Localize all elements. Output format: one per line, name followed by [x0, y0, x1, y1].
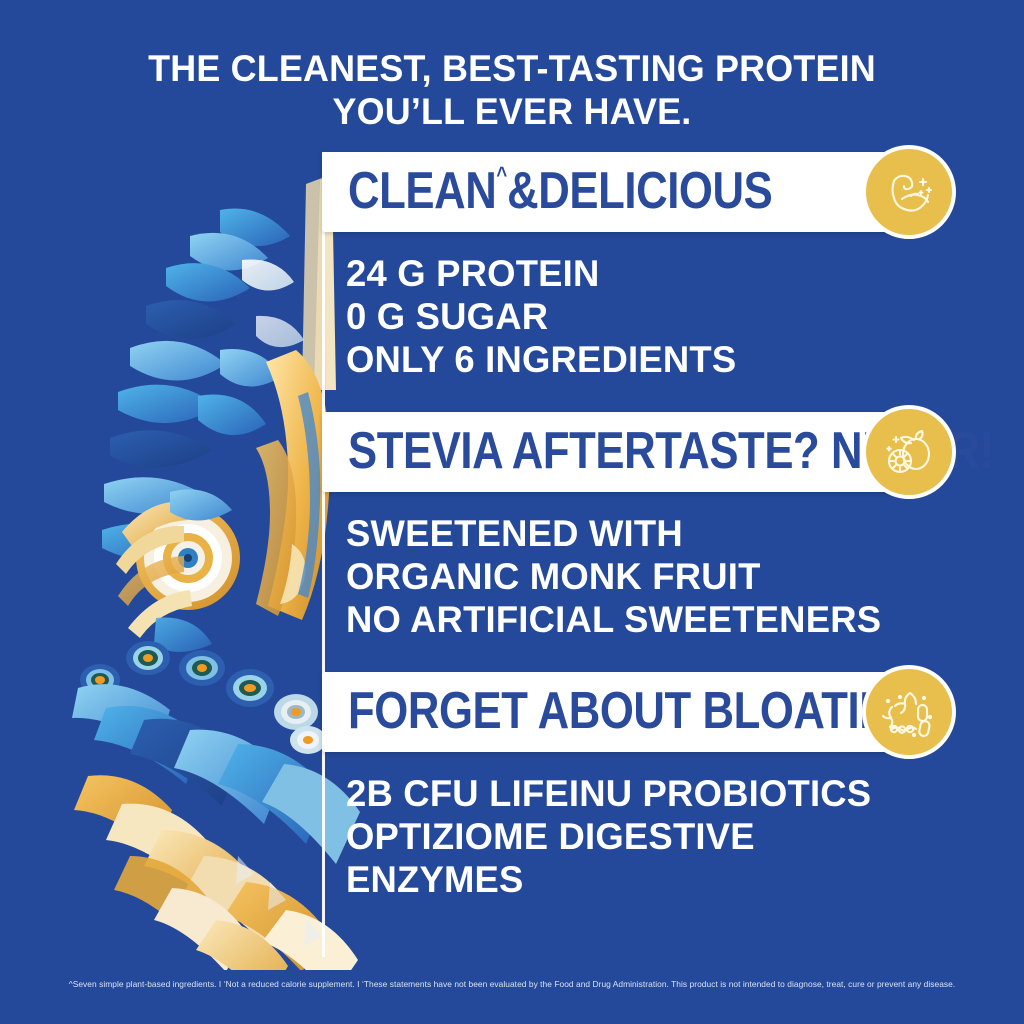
bullet-item: 0 G SUGAR — [346, 295, 736, 338]
paper-craft-owl-illustration — [70, 140, 360, 970]
feature-banner-stevia-aftertaste: STEVIA AFTERTASTE? NEVER! — [322, 412, 940, 492]
page-title: THE CLEANEST, BEST-TASTING PROTEIN YOU’L… — [15, 48, 1008, 134]
headline-line-1: THE CLEANEST, BEST-TASTING PROTEIN — [148, 48, 876, 89]
monk-fruit-icon-badge — [862, 405, 956, 499]
features-column: CLEAN^&DELICIOUS 24 G PROT — [322, 152, 962, 962]
feature-bullets-1: 24 G PROTEIN 0 G SUGAR ONLY 6 INGREDIENT… — [346, 252, 736, 381]
legal-disclaimer: ^Seven simple plant-based ingredients. I… — [0, 979, 1024, 989]
feature-title-1: CLEAN^&DELICIOUS — [348, 161, 772, 221]
feature-banner-forget-bloating: FORGET ABOUT BLOATING — [322, 672, 940, 752]
bullet-item: 24 G PROTEIN — [346, 252, 736, 295]
bullet-item: ONLY 6 INGREDIENTS — [346, 338, 736, 381]
flexing-bicep-icon — [880, 163, 938, 221]
feature-bullets-3: 2B CFU LIFEINU PROBIOTICS OPTIZIOME DIGE… — [346, 772, 871, 901]
bullet-item: 2B CFU LIFEINU PROBIOTICS — [346, 772, 871, 815]
feature-title-1-main: CLEAN — [348, 162, 496, 220]
probiotic-bacteria-icon — [880, 683, 938, 741]
feature-bullets-2: SWEETENED WITH ORGANIC MONK FRUIT NO ART… — [346, 512, 881, 641]
probiotic-bacteria-icon-badge — [862, 665, 956, 759]
headline-line-2: YOU’LL EVER HAVE. — [15, 91, 1008, 134]
feature-title-3-main: FORGET ABOUT BLOATING — [348, 682, 924, 740]
bullet-item: ORGANIC MONK FRUIT — [346, 555, 881, 598]
protein-product-infographic: THE CLEANEST, BEST-TASTING PROTEIN YOU’L… — [0, 0, 1024, 1024]
bullet-item: NO ARTIFICIAL SWEETENERS — [346, 598, 881, 641]
monk-fruit-icon — [880, 423, 938, 481]
feature-title-3: FORGET ABOUT BLOATING — [348, 681, 924, 741]
feature-title-1-footnote-marker: ^ — [496, 162, 507, 187]
feature-title-1-rest: &DELICIOUS — [507, 162, 772, 220]
bullet-item: SWEETENED WITH — [346, 512, 881, 555]
feature-banner-clean-delicious: CLEAN^&DELICIOUS — [322, 152, 940, 232]
bullet-item: OPTIZIOME DIGESTIVE — [346, 815, 871, 858]
flexing-bicep-icon-badge — [862, 145, 956, 239]
bullet-item: ENZYMES — [346, 858, 871, 901]
